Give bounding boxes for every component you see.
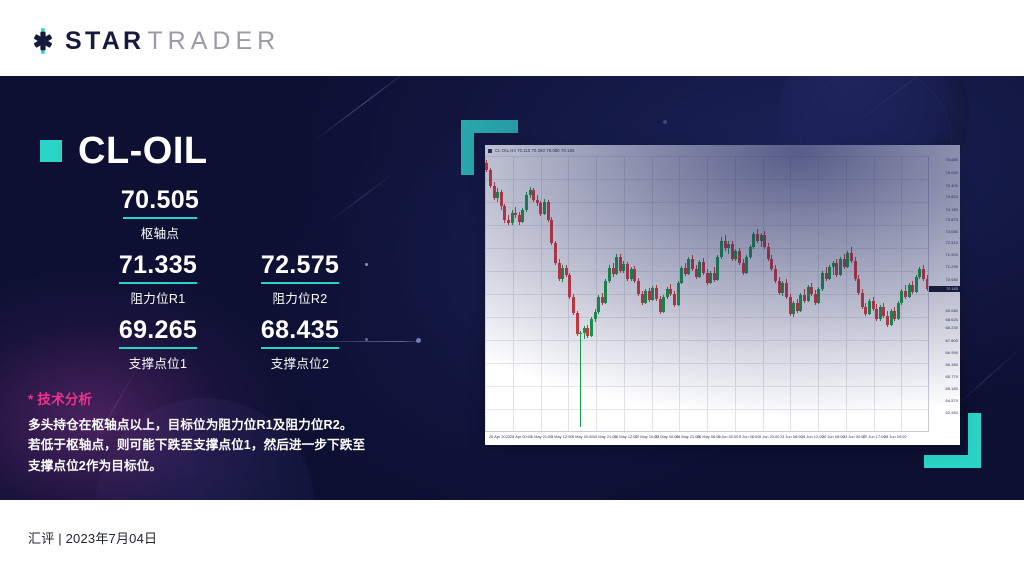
candle [835, 156, 838, 432]
candle-wick [533, 188, 534, 202]
candle-wick [901, 289, 902, 305]
level-pivot-label: 枢轴点 [85, 223, 235, 242]
analysis-line-1: 多头持仓在枢轴点以上，目标位为阻力位R1及阻力位R2。 [28, 415, 428, 435]
candle-wick [566, 265, 567, 277]
candle [915, 156, 918, 432]
candle [814, 156, 817, 432]
candle [918, 156, 921, 432]
candle [709, 156, 712, 432]
candle-wick [912, 281, 913, 294]
price-axis-tick: 63.950 [946, 411, 959, 415]
moon-shape [95, 398, 315, 500]
chart-header-text: CL-OIL,H4 70.110 70.280 70.080 70.183 [495, 148, 574, 153]
candle [568, 156, 571, 432]
level-pivot-value: 70.505 [85, 186, 235, 215]
candle-wick [613, 263, 614, 277]
candle [698, 156, 701, 432]
candle-wick [865, 303, 866, 316]
candle [875, 156, 878, 432]
candle-wick [919, 267, 920, 279]
time-axis-tick: 26 May 08:00 [697, 435, 721, 439]
magenta-glow [0, 270, 300, 500]
candle [550, 156, 553, 432]
grid-line-vertical [901, 156, 902, 432]
analysis-line-3: 支撑点位2作为目标位。 [28, 456, 428, 476]
candle [817, 156, 820, 432]
candle-wick [577, 311, 578, 336]
candle [807, 156, 810, 432]
candle-wick [797, 299, 798, 313]
candle [547, 156, 550, 432]
candle [922, 156, 925, 432]
candle [926, 156, 929, 432]
candle [843, 156, 846, 432]
candle-wick [652, 286, 653, 301]
candle-wick [620, 254, 621, 273]
grid-line-vertical [735, 156, 736, 432]
candle-wick [811, 283, 812, 296]
price-axis-tick: 76.040 [946, 171, 959, 175]
candle-body [662, 297, 665, 312]
candle-body [547, 202, 550, 220]
candle [770, 156, 773, 432]
candle-body [742, 263, 745, 273]
candle [886, 156, 889, 432]
candle-body [886, 316, 889, 325]
candle-wick [703, 258, 704, 275]
candle [529, 156, 532, 432]
candle-wick [584, 326, 585, 339]
candle-wick [569, 273, 570, 299]
price-axis-tick: 71.290 [946, 265, 959, 269]
grid-line-horizontal [485, 317, 929, 318]
candle-wick [559, 259, 560, 281]
candle-body [568, 275, 571, 297]
candle-body [904, 291, 907, 297]
content-stage: CL-OIL 70.505 枢轴点 71.335 阻力位R1 72.575 阻力… [0, 76, 1024, 500]
candle-body [716, 257, 719, 280]
candle-body [720, 241, 723, 257]
candle-body [832, 263, 835, 267]
candle [565, 156, 568, 432]
price-axis[interactable]: 76.68076.04075.40074.82074.18073.67073.0… [928, 156, 960, 432]
grid-line-vertical [541, 156, 542, 432]
candle-wick [786, 279, 787, 299]
candle-wick [873, 297, 874, 311]
candle [879, 156, 882, 432]
candle [619, 156, 622, 432]
candle [904, 156, 907, 432]
candle-body [698, 262, 701, 277]
candle [882, 156, 885, 432]
time-axis-tick: 5 May 00:00 [572, 435, 593, 439]
candle-body [724, 241, 727, 248]
candle [608, 156, 611, 432]
candle [760, 156, 763, 432]
candle-wick [768, 243, 769, 261]
candle-wick [649, 288, 650, 302]
candle [644, 156, 647, 432]
grid-line-vertical [624, 156, 625, 432]
candle-wick [927, 275, 928, 291]
candle-wick [735, 249, 736, 261]
candle-body [799, 295, 802, 311]
candle-wick [818, 287, 819, 304]
analysis-line-2: 若低于枢轴点，则可能下跌至支撑点位1，然后进一步下跌至 [28, 435, 428, 455]
price-axis-tick: 74.180 [946, 208, 959, 212]
candle-body [529, 190, 532, 195]
candle-body [680, 268, 683, 283]
candle-body [814, 294, 817, 303]
candle-body [713, 273, 716, 280]
candle-body [493, 186, 496, 198]
candle [500, 156, 503, 432]
candle-wick [656, 285, 657, 301]
time-axis-tick: 5 Jun 08:00 [739, 435, 759, 439]
candle [810, 156, 813, 432]
candle [677, 156, 680, 432]
candle-wick [598, 295, 599, 314]
price-axis-tick: 73.050 [946, 230, 959, 234]
candle [615, 156, 618, 432]
candle-body [644, 291, 647, 303]
candle-body [561, 268, 564, 279]
candle [539, 156, 542, 432]
candle-body [803, 295, 806, 301]
time-axis-tick: 27 Jun 17:00 [863, 435, 886, 439]
candle-body [651, 288, 654, 300]
candle-wick [761, 233, 762, 247]
grid-line-horizontal [485, 248, 929, 249]
price-axis-tick: 65.180 [946, 387, 959, 391]
grid-line-vertical [652, 156, 653, 432]
candle-body [709, 273, 712, 283]
candle [514, 156, 517, 432]
level-underline [261, 347, 339, 349]
candle [706, 156, 709, 432]
time-axis[interactable]: 26 Apr 202328 Apr 00:001 May 21:003 May … [485, 431, 929, 445]
candle [900, 156, 903, 432]
candle-wick [851, 247, 852, 263]
candle-body [854, 261, 857, 279]
candle [778, 156, 781, 432]
candle [485, 156, 488, 432]
candle [489, 156, 492, 432]
page-title: CL-OIL [78, 132, 208, 170]
candle-body [774, 269, 777, 281]
candle-wick [699, 260, 700, 278]
price-axis-tick: 75.400 [946, 184, 959, 188]
level-s2-value: 68.435 [220, 316, 380, 345]
candle-body [612, 268, 615, 274]
candle-body [890, 311, 893, 325]
candle-wick [573, 294, 574, 315]
candle [496, 156, 499, 432]
candle [893, 156, 896, 432]
price-axis-tick: 73.670 [946, 218, 959, 222]
candle-body [734, 251, 737, 259]
candle-body [691, 259, 694, 269]
candle-body [648, 291, 651, 300]
candle-wick [923, 265, 924, 281]
grid-line-vertical [513, 156, 514, 432]
candle [861, 156, 864, 432]
level-r1-value: 71.335 [78, 251, 238, 280]
candle-body [485, 163, 488, 170]
candle-body [594, 312, 597, 319]
candle [612, 156, 615, 432]
candle [857, 156, 860, 432]
streak-line [327, 169, 399, 224]
horizontal-accent-line [300, 341, 420, 342]
time-axis-tick: 1 Jun 00:00 [718, 435, 738, 439]
price-axis-tick: 72.510 [946, 241, 959, 245]
candle-wick [667, 287, 668, 299]
candle-wick [858, 275, 859, 295]
streak-line [87, 359, 143, 455]
time-axis-tick: 24 May 21:00 [676, 435, 700, 439]
candle-wick [537, 195, 538, 206]
candle-body [666, 289, 669, 297]
grid-line-vertical [707, 156, 708, 432]
time-axis-tick: 10 May 21:00 [593, 435, 617, 439]
time-axis-tick: 16 Jun 12:00 [801, 435, 824, 439]
candle [583, 156, 586, 432]
candle [651, 156, 654, 432]
candle-body [539, 203, 542, 214]
chart-header-marker-icon [488, 149, 492, 153]
candle-wick [728, 241, 729, 254]
candle-body [659, 299, 662, 312]
accent-dot [663, 120, 667, 124]
candle [763, 156, 766, 432]
candle-wick [540, 201, 541, 216]
candle-body [655, 288, 658, 299]
time-axis-tick: 26 Apr 2023 [489, 435, 510, 439]
instrument-title-row: CL-OIL [40, 132, 208, 170]
candle-wick [522, 208, 523, 223]
candle [713, 156, 716, 432]
candle [691, 156, 694, 432]
candle-body [915, 277, 918, 292]
candle-wick [631, 267, 632, 281]
candle-body [821, 273, 824, 289]
candle-body [875, 309, 878, 319]
candle-body [669, 289, 672, 294]
candle-body [507, 220, 510, 223]
technical-analysis-body: 多头持仓在枢轴点以上，目标位为阻力位R1及阻力位R2。 若低于枢轴点，则可能下跌… [28, 415, 428, 476]
price-axis-tick: 66.380 [946, 363, 959, 367]
candle [738, 156, 741, 432]
candle-wick [501, 190, 502, 210]
candle-wick [898, 301, 899, 320]
candle-wick [494, 182, 495, 200]
grid-line-vertical [818, 156, 819, 432]
candle-body [897, 303, 900, 319]
candle-body [641, 294, 644, 303]
candle [633, 156, 636, 432]
candle-wick [746, 255, 747, 274]
title-square-marker [40, 140, 62, 162]
candle [579, 156, 582, 432]
footer-bar: 汇评 | 2023年7月04日 [0, 500, 1024, 576]
candle [839, 156, 842, 432]
candle [655, 156, 658, 432]
candle [767, 156, 770, 432]
candle [576, 156, 579, 432]
price-chart[interactable]: CL-OIL,H4 70.110 70.280 70.080 70.183 76… [485, 145, 960, 445]
chart-plot-area[interactable] [485, 156, 929, 432]
candle [604, 156, 607, 432]
candle [789, 156, 792, 432]
candle [781, 156, 784, 432]
candle-body [843, 259, 846, 267]
accent-dot [904, 256, 907, 259]
time-axis-tick: 12 May 12:00 [614, 435, 638, 439]
candle-body [868, 301, 871, 314]
candle [684, 156, 687, 432]
candle-wick [743, 259, 744, 275]
candle [742, 156, 745, 432]
candle-wick [616, 254, 617, 275]
candle-wick [638, 278, 639, 296]
candle [543, 156, 546, 432]
level-underline [261, 282, 339, 284]
candle [601, 156, 604, 432]
candle-body [839, 259, 842, 275]
instrument-panel: CL-OIL 70.505 枢轴点 71.335 阻力位R1 72.575 阻力… [40, 76, 440, 500]
price-axis-tick: 68.620 [946, 318, 959, 322]
candle-body [857, 279, 860, 293]
candle-wick [804, 289, 805, 303]
candle-body [633, 269, 636, 281]
candle-body [850, 253, 853, 261]
candle-body [630, 269, 633, 279]
candle-wick [519, 212, 520, 225]
candle-wick [707, 269, 708, 285]
streak-line [313, 76, 417, 142]
candle-wick [508, 215, 509, 226]
candle-wick [515, 207, 516, 218]
candle [525, 156, 528, 432]
time-axis-tick: 20 Jun 08:00 [822, 435, 845, 439]
candle [792, 156, 795, 432]
candle-wick [887, 311, 888, 327]
candle [846, 156, 849, 432]
candle [897, 156, 900, 432]
candle-wick [609, 265, 610, 283]
candle-wick [844, 254, 845, 269]
candle-body [622, 264, 625, 271]
candle-body [604, 281, 607, 303]
candle-wick [822, 271, 823, 291]
planet-arc [780, 76, 972, 238]
candle-body [597, 297, 600, 312]
candle [493, 156, 496, 432]
candle-wick [714, 267, 715, 282]
brand-name-light: TRADER [147, 29, 280, 54]
candle-body [583, 328, 586, 333]
candle [864, 156, 867, 432]
price-axis-tick: 70.680 [946, 278, 959, 282]
candle-wick [512, 210, 513, 225]
candle-wick [660, 296, 661, 314]
candle [774, 156, 777, 432]
header-bar: STAR TRADER [0, 0, 1024, 76]
grid-line-vertical [763, 156, 764, 432]
blue-glow [250, 106, 810, 500]
candle-body [572, 297, 575, 313]
candle-wick [674, 291, 675, 307]
candle-body [745, 257, 748, 273]
candle-body [767, 247, 770, 259]
grid-line-vertical [846, 156, 847, 432]
candle-wick [808, 285, 809, 302]
candle-wick [905, 285, 906, 299]
candle-wick [678, 281, 679, 306]
candle-body [893, 311, 896, 319]
candle-wick [829, 265, 830, 280]
corner-bracket-bottom-right [924, 413, 981, 468]
candle [868, 156, 871, 432]
grid-line-horizontal [485, 363, 929, 364]
candle-wick [685, 263, 686, 276]
candle-body [749, 247, 752, 257]
candle-body [558, 263, 561, 279]
candle [825, 156, 828, 432]
candle-body [489, 170, 492, 186]
candle-body [706, 273, 709, 283]
grid-line-horizontal [485, 179, 929, 180]
level-s2-label: 支撑点位2 [220, 353, 380, 372]
candle [503, 156, 506, 432]
candle-body [796, 303, 799, 311]
candle [749, 156, 752, 432]
candle [521, 156, 524, 432]
candle-body [789, 297, 792, 314]
candle [518, 156, 521, 432]
candle-body [514, 213, 517, 215]
candle-body [576, 313, 579, 334]
candle-wick [891, 309, 892, 326]
price-axis-tick: 71.900 [946, 253, 959, 257]
candle-body [861, 293, 864, 307]
candle-body [828, 267, 831, 279]
grid-line-horizontal [485, 294, 929, 295]
candle-body [684, 268, 687, 274]
candle-body [911, 285, 914, 292]
candle-wick [779, 277, 780, 295]
candle [720, 156, 723, 432]
candle [803, 156, 806, 432]
grid-line-horizontal [485, 225, 929, 226]
candle [872, 156, 875, 432]
candle-body [518, 215, 521, 222]
candle-wick [833, 261, 834, 275]
candle-body [503, 206, 506, 220]
candle-wick [688, 257, 689, 275]
candle-wick [826, 267, 827, 281]
candle-wick [764, 231, 765, 249]
candle-wick [916, 275, 917, 293]
candle [680, 156, 683, 432]
candle-wick [883, 303, 884, 318]
price-axis-tick: 64.570 [946, 399, 959, 403]
level-underline [119, 282, 197, 284]
candle-wick [645, 289, 646, 304]
accent-dot [365, 338, 368, 341]
candle-wick [681, 266, 682, 284]
